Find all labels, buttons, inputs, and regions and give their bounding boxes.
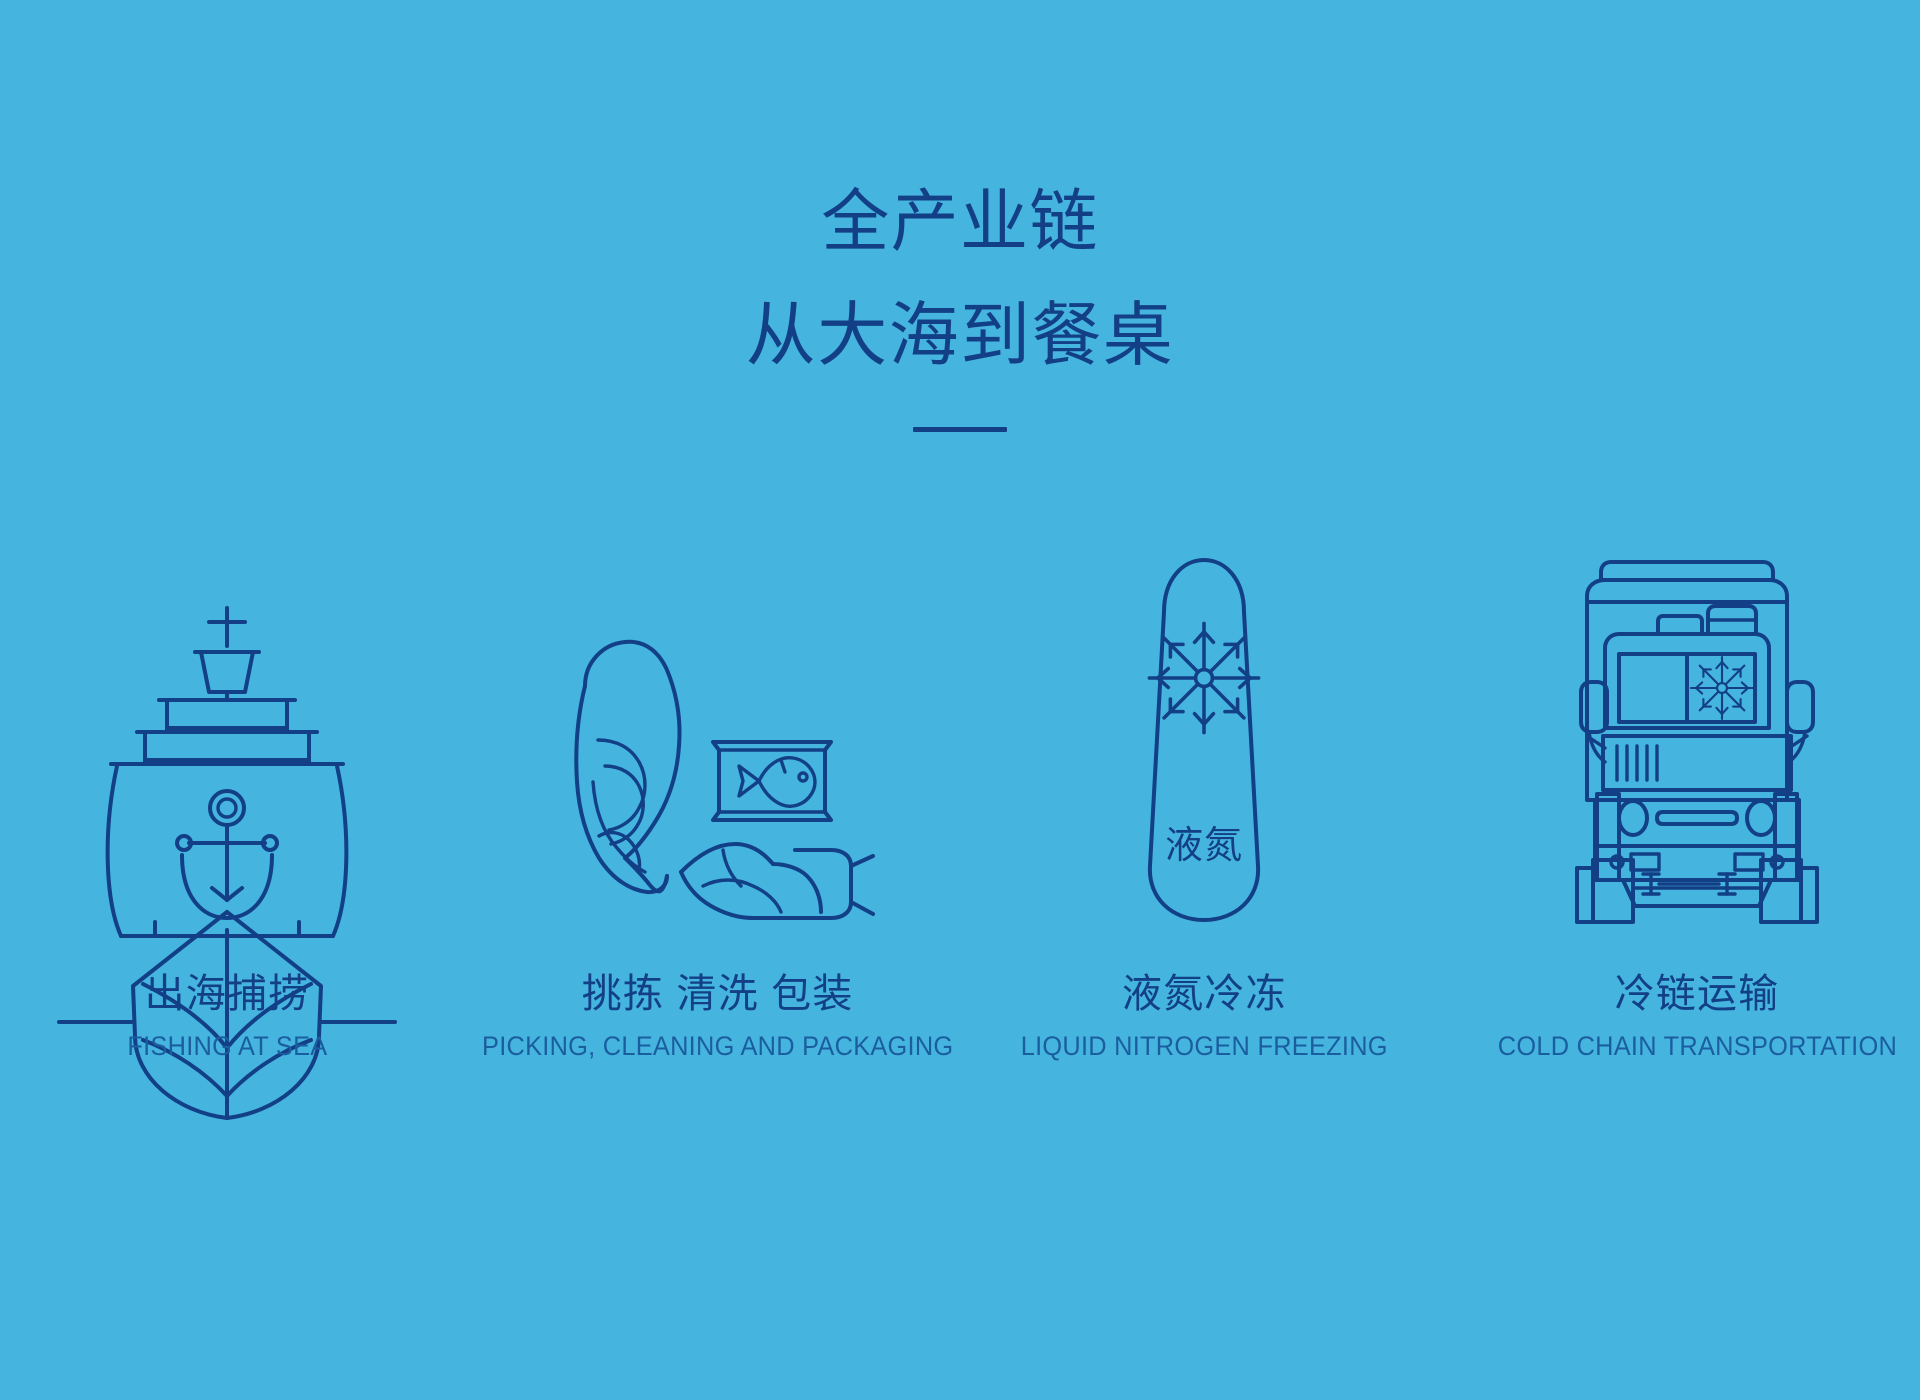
step-label-cn: 挑拣 清洗 包装 — [467, 970, 968, 1018]
icon-slot — [77, 530, 377, 930]
step-cold-chain-transportation: 冷链运输 COLD CHAIN TRANSPORTATION — [1462, 530, 1920, 1062]
step-label-en: FISHING AT SEA — [127, 1032, 327, 1062]
step-label-cn: 冷链运输 — [1485, 970, 1910, 1018]
liquid-nitrogen-canister-icon: 液氮 — [1124, 550, 1284, 930]
hands-with-packaged-fish-icon — [563, 600, 873, 930]
refrigerated-truck-icon — [1567, 550, 1827, 930]
step-liquid-nitrogen-freezing: 液氮 液氮冷冻 LIQUID NITROGEN FREEZING — [969, 530, 1439, 1062]
step-label-en: COLD CHAIN TRANSPORTATION — [1497, 1032, 1896, 1062]
step-labels: 液氮冷冻 LIQUID NITROGEN FREEZING — [1009, 970, 1400, 1062]
icon-slot: 液氮 — [1124, 530, 1284, 930]
step-fishing-at-sea: 出海捕捞 FISHING AT SEA — [0, 530, 462, 1062]
step-label-cn: 液氮冷冻 — [1009, 970, 1400, 1018]
packaged-fish-icon — [713, 742, 831, 820]
step-label-en: LIQUID NITROGEN FREEZING — [1021, 1032, 1388, 1062]
step-labels: 挑拣 清洗 包装 PICKING, CLEANING AND PACKAGING — [467, 970, 968, 1062]
step-labels: 冷链运输 COLD CHAIN TRANSPORTATION — [1485, 970, 1910, 1062]
title-divider — [913, 427, 1007, 432]
fishing-boat-icon — [77, 600, 377, 930]
page-title-line-1: 全产业链 — [0, 0, 1920, 256]
icon-slot — [1567, 530, 1827, 930]
step-labels: 出海捕捞 FISHING AT SEA — [121, 970, 334, 1062]
header: 全产业链 从大海到餐桌 — [0, 0, 1920, 434]
snowflake-icon — [1150, 623, 1259, 732]
step-picking-cleaning-packaging: 挑拣 清洗 包装 PICKING, CLEANING AND PACKAGING — [483, 530, 953, 1062]
infographic-canvas: 全产业链 从大海到餐桌 — [0, 0, 1920, 1400]
step-label-en: PICKING, CLEANING AND PACKAGING — [482, 1032, 953, 1062]
step-label-cn: 出海捕捞 — [121, 970, 334, 1018]
process-steps: 出海捕捞 FISHING AT SEA — [0, 530, 1920, 1062]
page-title-line-2: 从大海到餐桌 — [0, 256, 1920, 372]
title-divider-wrap — [0, 424, 1920, 434]
icon-slot — [563, 530, 873, 930]
snowflake-icon — [1691, 657, 1753, 719]
canister-label: 液氮 — [1165, 825, 1243, 867]
